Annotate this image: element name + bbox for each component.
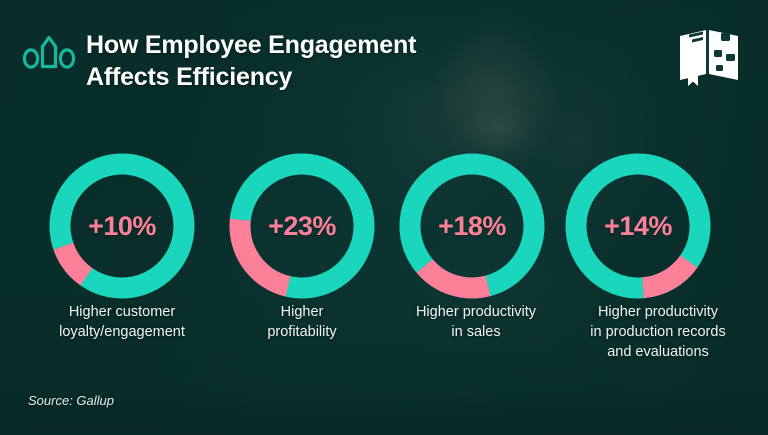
donut-chart-2: +23%: [222, 146, 382, 306]
donut-value-2: +23%: [222, 146, 382, 306]
donut-value-4: +14%: [558, 146, 718, 306]
donut-caption-2: Higher profitability: [216, 303, 388, 343]
donut-caption-3: Higher productivity in sales: [383, 303, 569, 343]
donut-value-3: +18%: [392, 146, 552, 306]
caption-line: Higher customer: [24, 303, 220, 323]
donut-caption-1: Higher customer loyalty/engagement: [24, 303, 220, 343]
infographic-poster: How Employee Engagement Affects Efficien…: [0, 0, 768, 435]
source-attribution: Source: Gallup: [28, 393, 114, 408]
caption-line: in production records: [560, 323, 756, 343]
header: How Employee Engagement Affects Efficien…: [0, 0, 768, 120]
caption-line: profitability: [216, 323, 388, 343]
donut-chart-4: +14%: [558, 146, 718, 306]
growth-arrow-icon: [22, 30, 76, 72]
donut-caption-4: Higher productivity in production record…: [560, 303, 756, 363]
donut-value-1: +10%: [42, 146, 202, 306]
caption-line: Higher productivity: [560, 303, 756, 323]
donut-chart-3: +18%: [392, 146, 552, 306]
donut-chart-1: +10%: [42, 146, 202, 306]
caption-line: loyalty/engagement: [24, 323, 220, 343]
open-book-briefcase-logo: [676, 24, 744, 86]
title-line-1: How Employee Engagement: [86, 31, 416, 59]
caption-line: and evaluations: [560, 343, 756, 363]
caption-group: Higher customer loyalty/engagement Highe…: [0, 303, 768, 393]
title-line-2: Affects Efficiency: [86, 61, 506, 93]
caption-line: in sales: [383, 323, 569, 343]
caption-line: Higher productivity: [383, 303, 569, 323]
donut-chart-group: +10% +23% +18% +14%: [0, 146, 768, 321]
page-title: How Employee Engagement Affects Efficien…: [86, 29, 506, 93]
caption-line: Higher: [216, 303, 388, 323]
